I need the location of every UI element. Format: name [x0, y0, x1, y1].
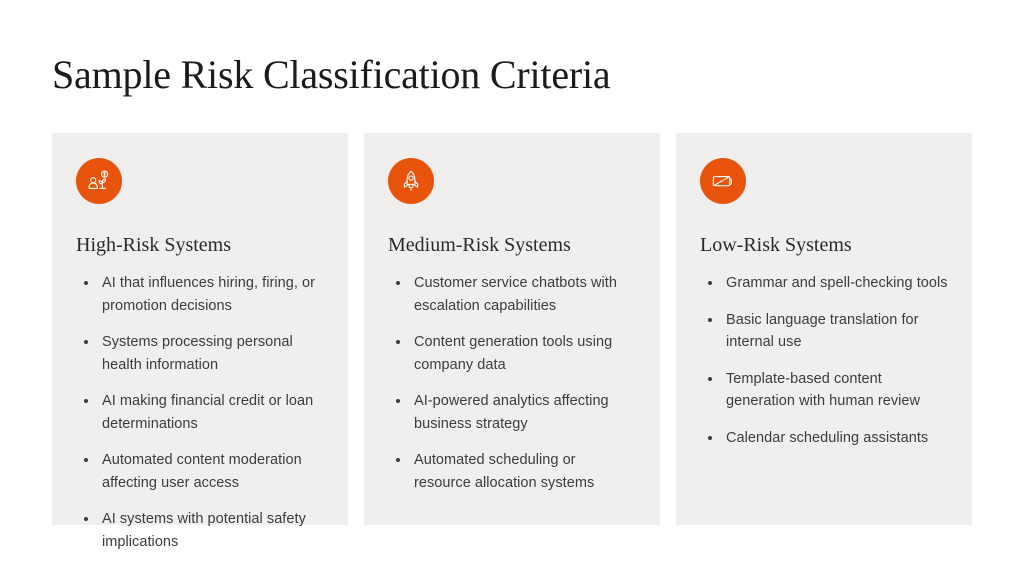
- slide-canvas: Sample Risk Classification Criteria High…: [0, 0, 1024, 576]
- page-title: Sample Risk Classification Criteria: [52, 50, 610, 100]
- bullet-list-medium-risk: Customer service chatbots with escalatio…: [388, 272, 636, 494]
- list-item: Systems processing personal health infor…: [76, 331, 324, 376]
- list-item: Basic language translation for internal …: [700, 309, 948, 354]
- list-item-text: AI that influences hiring, firing, or pr…: [102, 275, 315, 314]
- list-item-text: AI systems with potential safety implica…: [102, 511, 306, 550]
- list-item-text: Calendar scheduling assistants: [726, 430, 928, 446]
- card-heading-medium-risk: Medium-Risk Systems: [388, 232, 636, 258]
- list-item-text: Template-based content generation with h…: [726, 371, 920, 410]
- bullet-dot-icon: [396, 458, 400, 462]
- bullet-dot-icon: [396, 281, 400, 285]
- risk-category-cards: High-Risk Systems AI that influences hir…: [52, 133, 972, 525]
- list-item: AI making financial credit or loan deter…: [76, 390, 324, 435]
- list-item-text: AI making financial credit or loan deter…: [102, 393, 313, 432]
- card-medium-risk: Medium-Risk Systems Customer service cha…: [364, 133, 660, 525]
- list-item-text: Content generation tools using company d…: [414, 334, 612, 373]
- list-item: Automated scheduling or resource allocat…: [388, 449, 636, 494]
- bullet-dot-icon: [84, 281, 88, 285]
- list-item-text: Grammar and spell-checking tools: [726, 275, 948, 291]
- list-item-text: AI-powered analytics affecting business …: [414, 393, 609, 432]
- list-item-text: Automated content moderation affecting u…: [102, 452, 302, 491]
- list-item: AI systems with potential safety implica…: [76, 508, 324, 553]
- list-item-text: Automated scheduling or resource allocat…: [414, 452, 594, 491]
- list-item: Content generation tools using company d…: [388, 331, 636, 376]
- list-item-text: Basic language translation for internal …: [726, 312, 919, 351]
- rocket-icon: [388, 158, 434, 204]
- list-item-text: Systems processing personal health infor…: [102, 334, 293, 373]
- bullet-dot-icon: [708, 281, 712, 285]
- bullet-dot-icon: [396, 340, 400, 344]
- list-item: AI-powered analytics affecting business …: [388, 390, 636, 435]
- bullet-dot-icon: [708, 318, 712, 322]
- bullet-list-low-risk: Grammar and spell-checking tools Basic l…: [700, 272, 948, 449]
- list-item: Calendar scheduling assistants: [700, 427, 948, 450]
- list-item-text: Customer service chatbots with escalatio…: [414, 275, 617, 314]
- list-item: Automated content moderation affecting u…: [76, 449, 324, 494]
- card-heading-high-risk: High-Risk Systems: [76, 232, 324, 258]
- card-heading-low-risk: Low-Risk Systems: [700, 232, 948, 258]
- bullet-dot-icon: [84, 517, 88, 521]
- bullet-list-high-risk: AI that influences hiring, firing, or pr…: [76, 272, 324, 553]
- bullet-dot-icon: [84, 458, 88, 462]
- list-item: AI that influences hiring, firing, or pr…: [76, 272, 324, 317]
- bullet-dot-icon: [396, 399, 400, 403]
- person-money-growth-icon: [76, 158, 122, 204]
- bullet-dot-icon: [708, 436, 712, 440]
- battery-low-icon: [700, 158, 746, 204]
- bullet-dot-icon: [84, 399, 88, 403]
- list-item: Customer service chatbots with escalatio…: [388, 272, 636, 317]
- list-item: Grammar and spell-checking tools: [700, 272, 948, 295]
- list-item: Template-based content generation with h…: [700, 368, 948, 413]
- card-low-risk: Low-Risk Systems Grammar and spell-check…: [676, 133, 972, 525]
- bullet-dot-icon: [84, 340, 88, 344]
- bullet-dot-icon: [708, 377, 712, 381]
- card-high-risk: High-Risk Systems AI that influences hir…: [52, 133, 348, 525]
